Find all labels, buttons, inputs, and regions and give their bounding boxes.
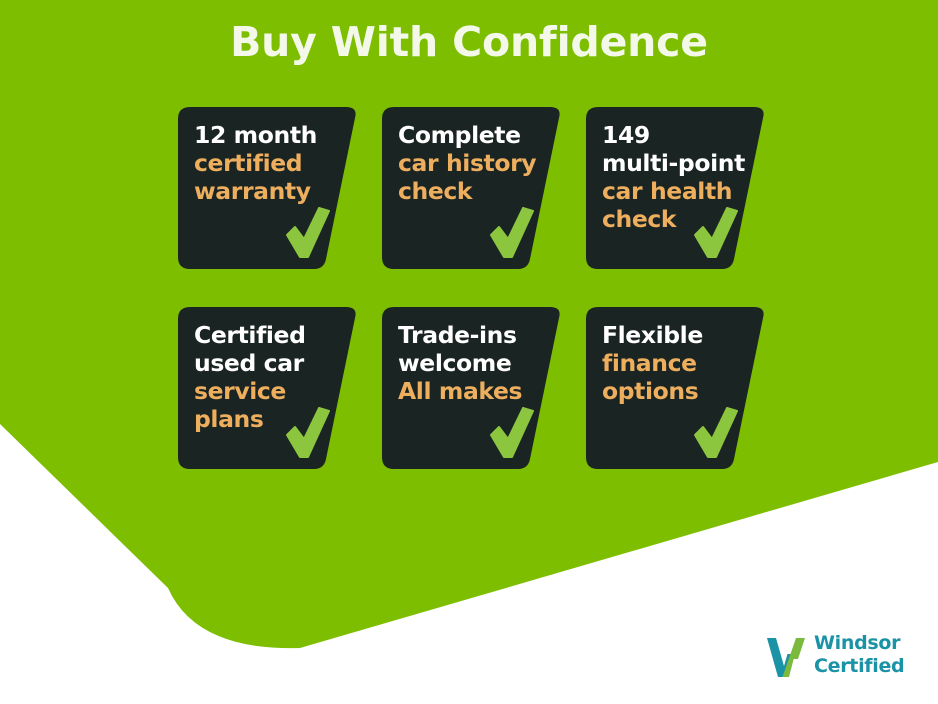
check-icon bbox=[694, 207, 738, 259]
check-icon bbox=[286, 207, 330, 259]
card-line: options bbox=[602, 377, 754, 405]
card-text-block: Flexiblefinanceoptions bbox=[602, 321, 754, 405]
check-icon bbox=[490, 407, 534, 459]
promo-banner: Buy With Confidence 12 monthcertifiedwar… bbox=[0, 0, 938, 704]
card-line: All makes bbox=[398, 377, 550, 405]
card-line: warranty bbox=[194, 177, 346, 205]
benefit-card-car-history-check: Completecar historycheck bbox=[382, 107, 562, 269]
card-line: Certified bbox=[194, 321, 346, 349]
logo-wordmark: Windsor Certified bbox=[814, 632, 904, 678]
logo-line-1: Windsor bbox=[814, 632, 904, 655]
card-line: service bbox=[194, 377, 346, 405]
card-line: welcome bbox=[398, 349, 550, 377]
logo-line-2: Certified bbox=[814, 655, 904, 678]
card-line: multi-point bbox=[602, 149, 754, 177]
check-icon bbox=[694, 407, 738, 459]
card-text-block: Trade-inswelcomeAll makes bbox=[398, 321, 550, 405]
card-line: used car bbox=[194, 349, 346, 377]
windsor-w-mark-icon bbox=[764, 634, 810, 678]
card-line: certified bbox=[194, 149, 346, 177]
benefit-card-trade-ins: Trade-inswelcomeAll makes bbox=[382, 307, 562, 469]
card-line: finance bbox=[602, 349, 754, 377]
card-text-block: Completecar historycheck bbox=[398, 121, 550, 205]
benefit-card-service-plans: Certifiedused carserviceplans bbox=[178, 307, 358, 469]
check-icon bbox=[490, 207, 534, 259]
card-line: check bbox=[398, 177, 550, 205]
page-title: Buy With Confidence bbox=[0, 20, 938, 65]
card-text-block: 12 monthcertifiedwarranty bbox=[194, 121, 346, 205]
card-line: 12 month bbox=[194, 121, 346, 149]
benefit-card-certified-warranty: 12 monthcertifiedwarranty bbox=[178, 107, 358, 269]
card-line: car history bbox=[398, 149, 550, 177]
card-line: Trade-ins bbox=[398, 321, 550, 349]
benefit-card-flexible-finance: Flexiblefinanceoptions bbox=[586, 307, 766, 469]
check-icon bbox=[286, 407, 330, 459]
card-line: car health bbox=[602, 177, 754, 205]
benefit-card-multi-point-health-check: 149multi-pointcar healthcheck bbox=[586, 107, 766, 269]
card-line: Complete bbox=[398, 121, 550, 149]
windsor-certified-logo: Windsor Certified bbox=[764, 632, 924, 682]
card-line: Flexible bbox=[602, 321, 754, 349]
card-line: 149 bbox=[602, 121, 754, 149]
